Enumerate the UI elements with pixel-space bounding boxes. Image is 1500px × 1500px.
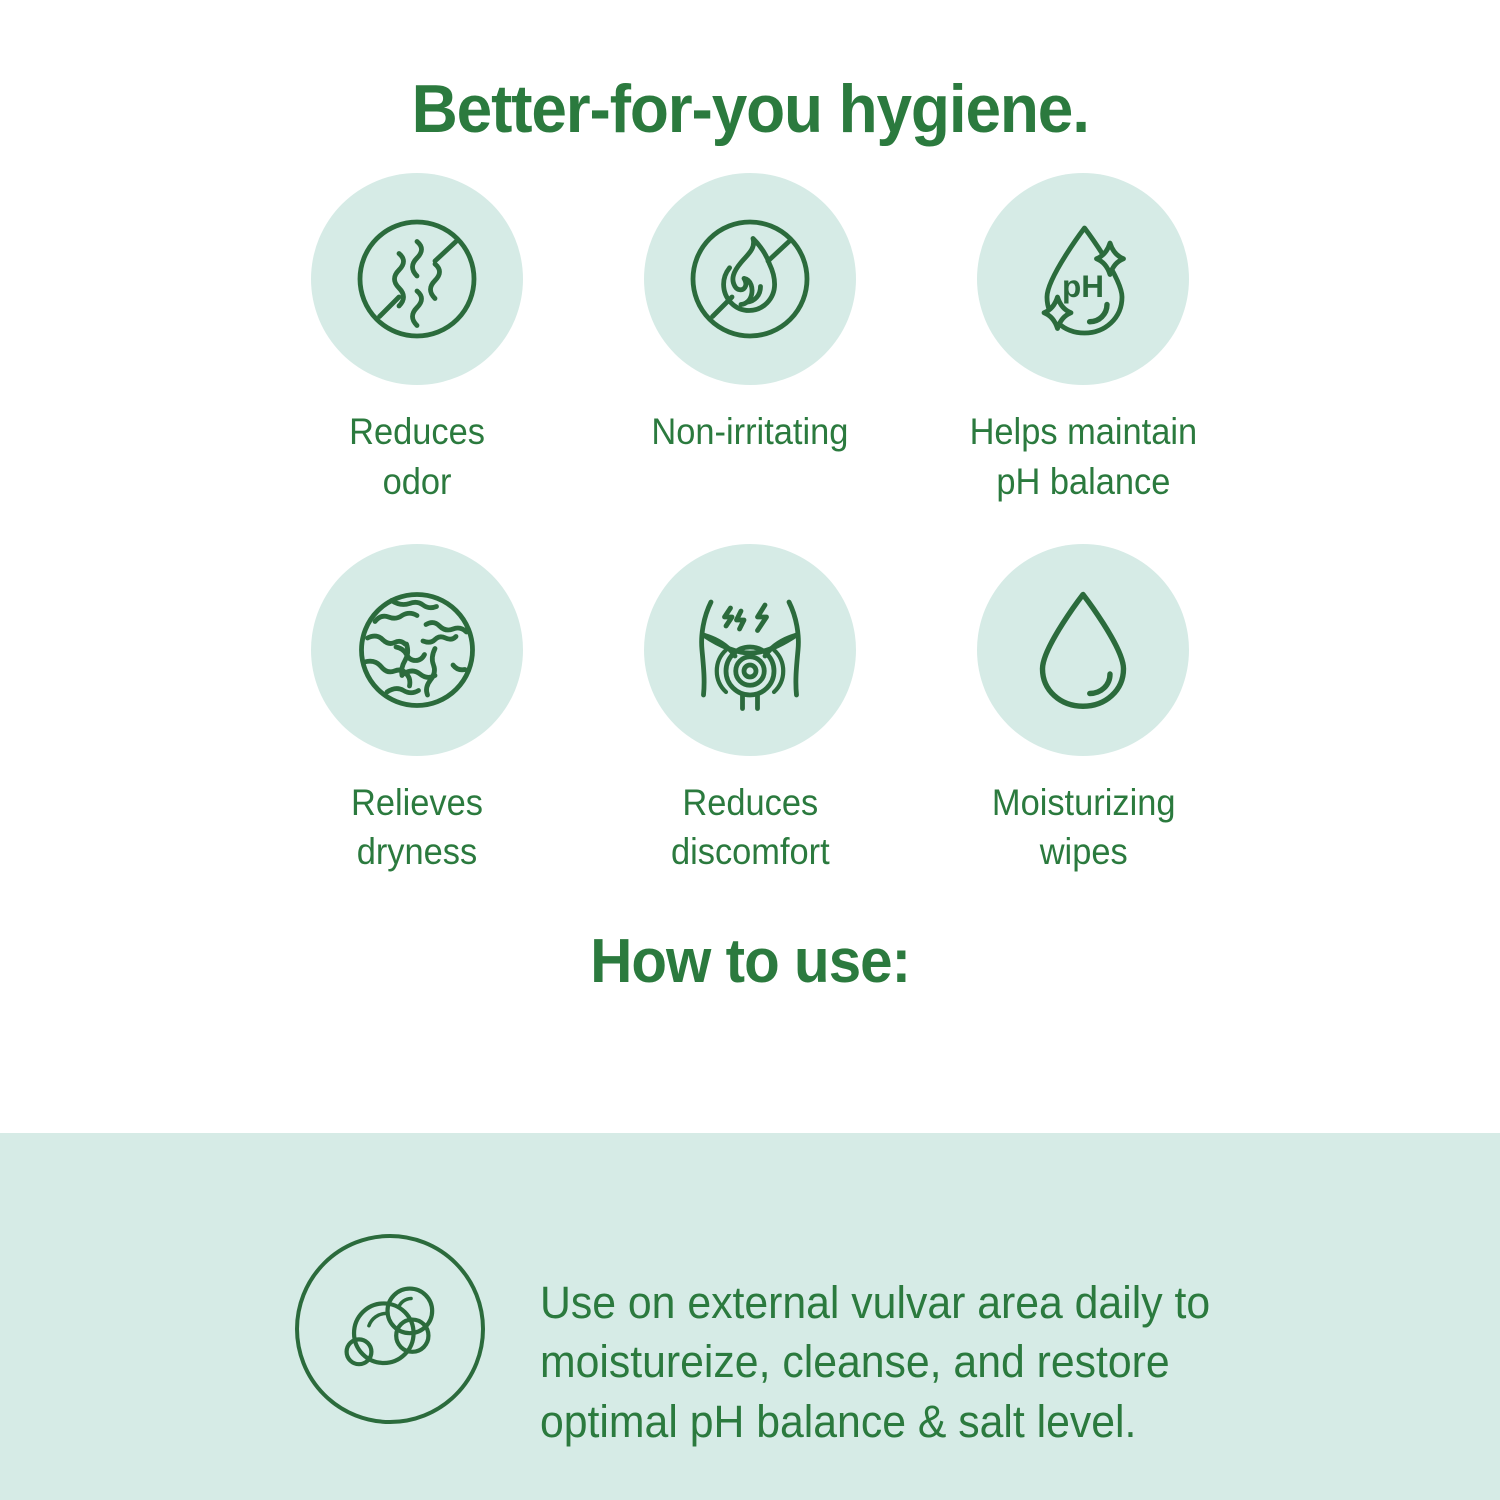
- benefit-icon-badge: pH: [977, 173, 1189, 385]
- benefit-item-relieves-dryness: Relieves dryness: [250, 544, 583, 876]
- benefits-grid: Reduces odor: [250, 173, 1250, 876]
- benefit-icon-badge: [977, 544, 1189, 756]
- pelvic-pain-icon: [675, 575, 825, 725]
- dry-skin-icon: [342, 575, 492, 725]
- ph-droplet-icon: pH: [1008, 204, 1158, 354]
- benefit-item-reduces-odor: Reduces odor: [250, 173, 583, 505]
- no-flame-icon: [675, 204, 825, 354]
- bubbles-icon-badge: [295, 1234, 485, 1424]
- benefit-icon-badge: [311, 173, 523, 385]
- benefit-icon-badge: [644, 173, 856, 385]
- benefit-label: Helps maintain pH balance: [970, 407, 1198, 505]
- bubbles-icon: [328, 1265, 452, 1394]
- benefit-label: Moisturizing wipes: [992, 778, 1176, 876]
- benefit-label: Reduces discomfort: [671, 778, 830, 876]
- benefit-icon-badge: [311, 544, 523, 756]
- benefit-label: Non-irritating: [652, 407, 849, 456]
- droplet-icon: [1008, 575, 1158, 725]
- how-to-use-panel: Use on external vulvar area daily to moi…: [0, 1133, 1500, 1500]
- ph-icon-label: pH: [1062, 268, 1104, 304]
- benefit-icon-badge: [644, 544, 856, 756]
- benefit-label: Reduces odor: [349, 407, 485, 505]
- benefit-item-reduces-discomfort: Reduces discomfort: [583, 544, 916, 876]
- page-title: Better-for-you hygiene.: [411, 0, 1088, 145]
- benefit-item-moisturizing-wipes: Moisturizing wipes: [917, 544, 1250, 876]
- benefit-label: Relieves dryness: [351, 778, 483, 876]
- benefit-item-ph-balance: pH Helps maintain pH balance: [917, 173, 1250, 505]
- infographic-page: Better-for-you hygiene.: [0, 0, 1500, 1500]
- benefits-section: Better-for-you hygiene.: [0, 0, 1500, 1133]
- how-to-use-heading: How to use:: [590, 876, 910, 997]
- benefit-item-non-irritating: Non-irritating: [583, 173, 916, 505]
- no-odor-icon: [342, 204, 492, 354]
- how-to-use-text: Use on external vulvar area daily to moi…: [540, 1273, 1243, 1451]
